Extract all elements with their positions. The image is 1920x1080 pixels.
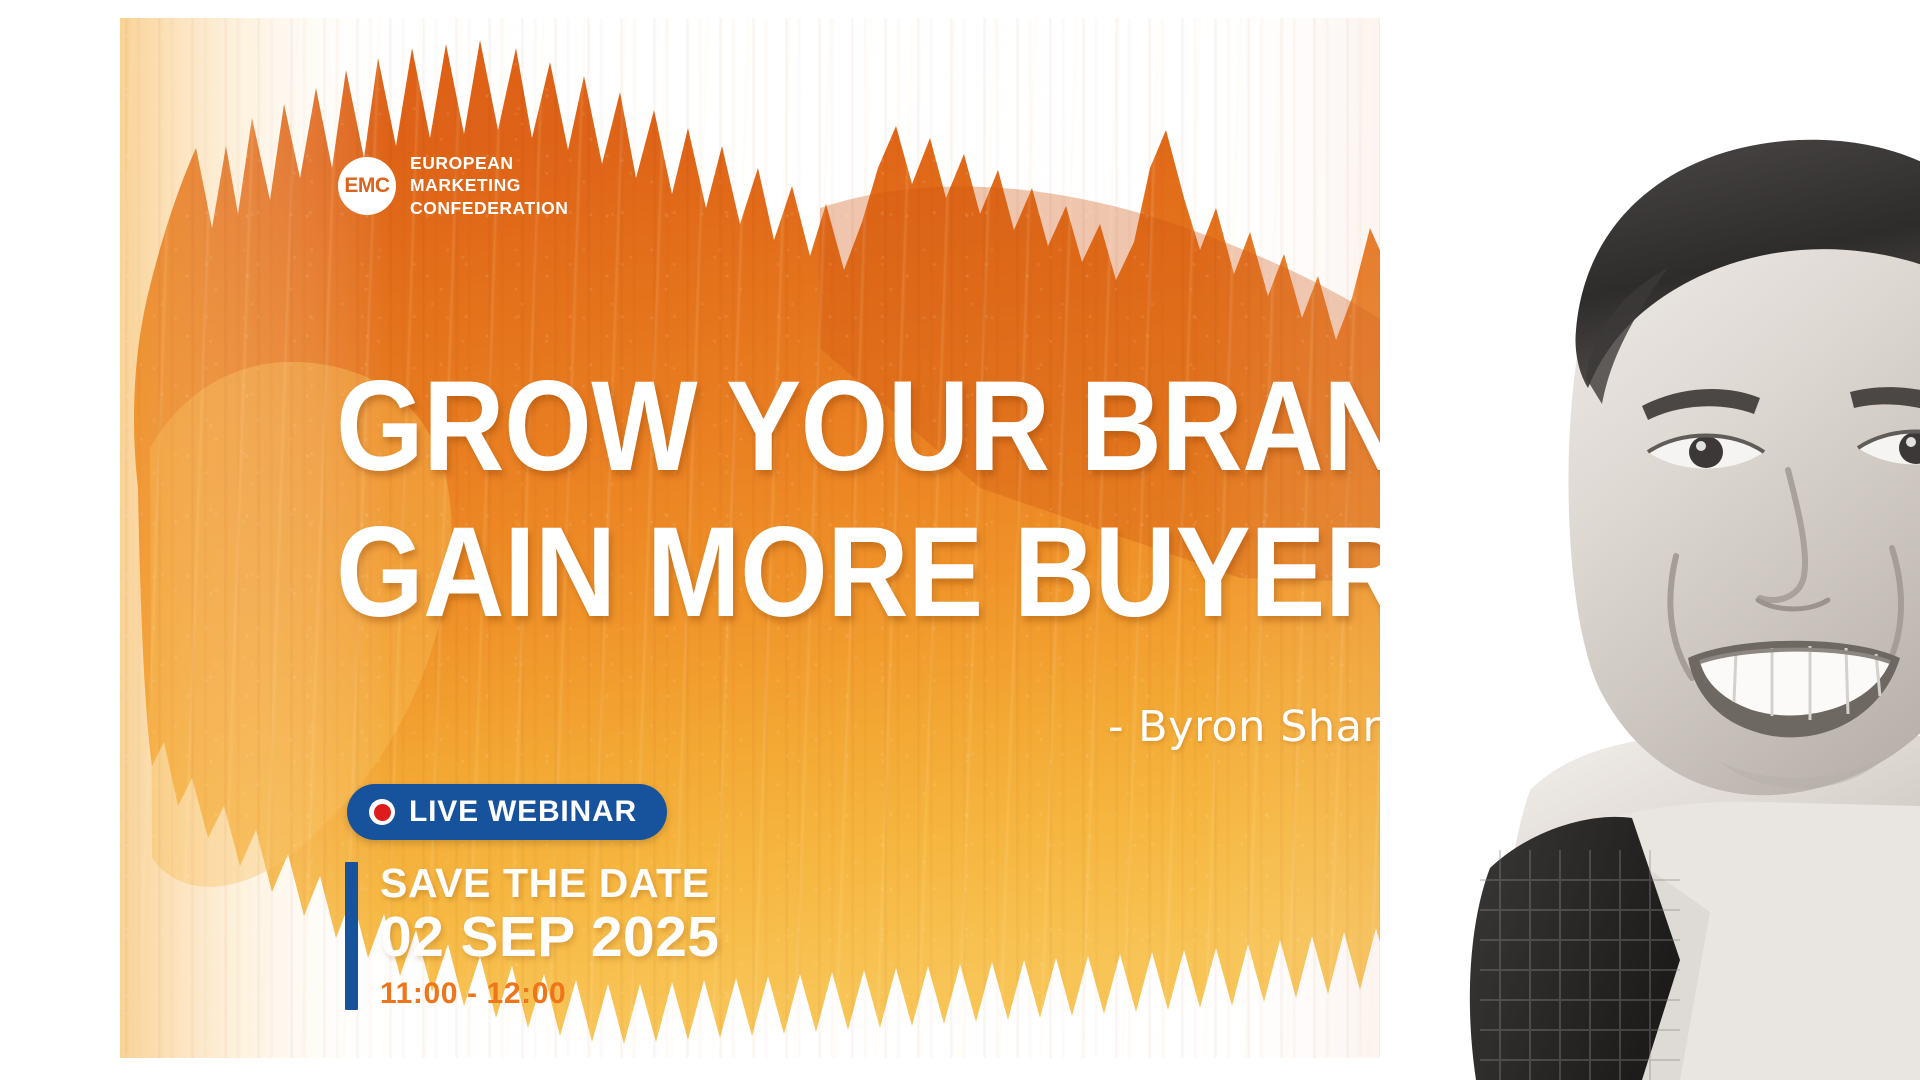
emc-circle-logo-icon: EMC bbox=[338, 157, 396, 215]
headline-line-1: GROW YOUR BRAND bbox=[336, 368, 1485, 486]
record-dot-icon bbox=[369, 799, 395, 825]
live-webinar-label: LIVE WEBINAR bbox=[409, 795, 637, 829]
date-text-group: SAVE THE DATE 02 SEP 2025 11:00 - 12:00 bbox=[358, 862, 719, 1010]
emc-name-line-3: CONFEDERATION bbox=[410, 197, 569, 219]
speaker-portrait bbox=[1380, 0, 1920, 1080]
emc-logo-abbrev: EMC bbox=[344, 175, 389, 196]
headline-line-2: GAIN MORE BUYERS bbox=[336, 514, 1485, 632]
left-eye-catchlight bbox=[1696, 441, 1706, 451]
headline-attribution: - Byron Sharp bbox=[1108, 702, 1408, 752]
emc-name-line-2: MARKETING bbox=[410, 174, 569, 196]
poster-canvas: EMC EUROPEAN MARKETING CONFEDERATION GRO… bbox=[0, 0, 1920, 1080]
event-date: 02 SEP 2025 bbox=[380, 907, 719, 969]
emc-logo-wordmark: EUROPEAN MARKETING CONFEDERATION bbox=[410, 152, 569, 219]
event-time: 11:00 - 12:00 bbox=[380, 977, 719, 1010]
left-pupil bbox=[1689, 436, 1723, 468]
speaker-portrait-svg bbox=[1380, 0, 1920, 1080]
emc-name-line-1: EUROPEAN bbox=[410, 152, 569, 174]
save-the-date-label: SAVE THE DATE bbox=[380, 862, 719, 905]
right-eye-catchlight bbox=[1906, 437, 1916, 447]
emc-logo[interactable]: EMC EUROPEAN MARKETING CONFEDERATION bbox=[338, 152, 569, 219]
save-the-date-block: SAVE THE DATE 02 SEP 2025 11:00 - 12:00 bbox=[345, 862, 719, 1010]
accent-bar bbox=[345, 862, 358, 1010]
live-webinar-badge[interactable]: LIVE WEBINAR bbox=[347, 784, 667, 840]
